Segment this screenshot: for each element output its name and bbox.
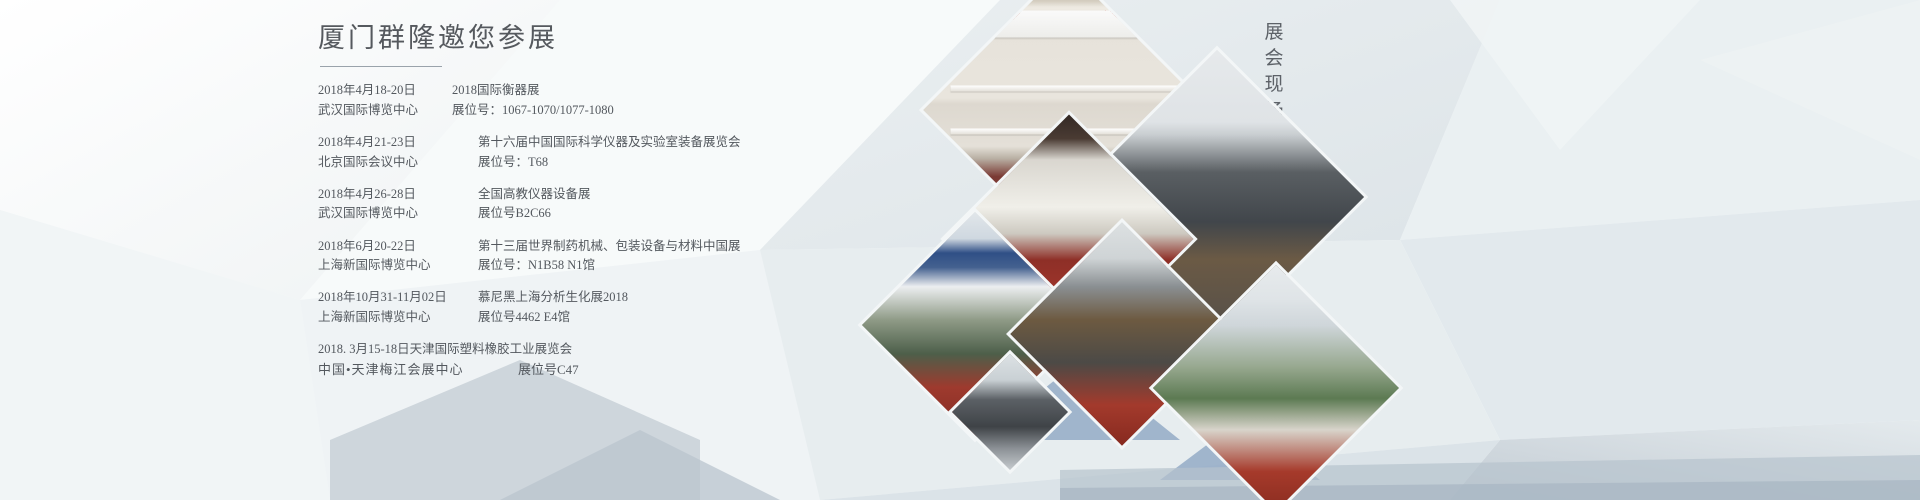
event-name: 2018国际衡器展 xyxy=(452,81,540,100)
event-venue-row: 武汉国际博览中心 展位号：1067-1070/1077-1080 xyxy=(318,101,958,120)
event-date: 2018年4月26-28日 xyxy=(318,185,478,204)
photo-collage: 密度计&水分仪中国供应商 厦门群隆仪器有限公司 Xiamen qun long … xyxy=(1020,0,1440,500)
event-name: 第十三届世界制药机械、包装设备与材料中国展 xyxy=(478,237,741,256)
event-venue-row: 中国•天津梅江会展中心 展位号C47 xyxy=(318,360,958,380)
event-booth: 展位号4462 E4馆 xyxy=(478,308,570,327)
event-item: 2018年6月20-22日 第十三届世界制药机械、包装设备与材料中国展 上海新国… xyxy=(318,237,958,276)
event-booth: 展位号B2C66 xyxy=(478,204,551,223)
event-title-row: 2018年10月31-11月02日 慕尼黑上海分析生化展2018 xyxy=(318,288,958,307)
event-date: 2018. 3月15-18日天津国际塑料橡胶工业展览会 xyxy=(318,340,572,359)
event-date: 2018年4月21-23日 xyxy=(318,133,478,152)
event-venue: 中国•天津梅江会展中心 xyxy=(318,360,518,380)
event-venue: 武汉国际博览中心 xyxy=(318,204,478,223)
event-booth: 展位号：1067-1070/1077-1080 xyxy=(452,101,614,120)
event-title-row: 2018年4月21-23日 第十六届中国国际科学仪器及实验室装备展览会 xyxy=(318,133,958,152)
event-date: 2018年6月20-22日 xyxy=(318,237,478,256)
event-item: 2018年4月26-28日 全国高教仪器设备展 武汉国际博览中心 展位号B2C6… xyxy=(318,185,958,224)
event-venue: 上海新国际博览中心 xyxy=(318,256,478,275)
exhibition-banner: 厦门群隆邀您参展 2018年4月18-20日 2018国际衡器展 武汉国际博览中… xyxy=(0,0,1920,500)
event-item: 2018年4月18-20日 2018国际衡器展 武汉国际博览中心 展位号：106… xyxy=(318,81,958,120)
event-title-row: 2018. 3月15-18日天津国际塑料橡胶工业展览会 xyxy=(318,340,958,359)
event-venue-row: 上海新国际博览中心 展位号：N1B58 N1馆 xyxy=(318,256,958,275)
event-venue: 上海新国际博览中心 xyxy=(318,308,478,327)
event-venue: 武汉国际博览中心 xyxy=(318,101,452,120)
page-title: 厦门群隆邀您参展 xyxy=(318,22,958,62)
event-booth: 展位号C47 xyxy=(518,360,579,380)
event-booth: 展位号：N1B58 N1馆 xyxy=(478,256,595,275)
event-date: 2018年10月31-11月02日 xyxy=(318,288,478,307)
event-title-row: 2018年4月26-28日 全国高教仪器设备展 xyxy=(318,185,958,204)
event-venue: 北京国际会议中心 xyxy=(318,153,478,172)
event-date: 2018年4月18-20日 xyxy=(318,81,452,100)
event-item: 2018年4月21-23日 第十六届中国国际科学仪器及实验室装备展览会 北京国际… xyxy=(318,133,958,172)
event-name: 全国高教仪器设备展 xyxy=(478,185,591,204)
event-venue-row: 北京国际会议中心 展位号：T68 xyxy=(318,153,958,172)
event-venue-row: 武汉国际博览中心 展位号B2C66 xyxy=(318,204,958,223)
event-title-row: 2018年6月20-22日 第十三届世界制药机械、包装设备与材料中国展 xyxy=(318,237,958,256)
display-shelf xyxy=(951,86,1181,92)
event-item: 2018. 3月15-18日天津国际塑料橡胶工业展览会 中国•天津梅江会展中心 … xyxy=(318,340,958,380)
event-name: 慕尼黑上海分析生化展2018 xyxy=(478,288,628,307)
event-title-row: 2018年4月18-20日 2018国际衡器展 xyxy=(318,81,958,100)
event-name: 第十六届中国国际科学仪器及实验室装备展览会 xyxy=(478,133,741,152)
event-list: 厦门群隆邀您参展 2018年4月18-20日 2018国际衡器展 武汉国际博览中… xyxy=(318,22,958,393)
event-booth: 展位号：T68 xyxy=(478,153,548,172)
title-underline xyxy=(320,66,442,67)
